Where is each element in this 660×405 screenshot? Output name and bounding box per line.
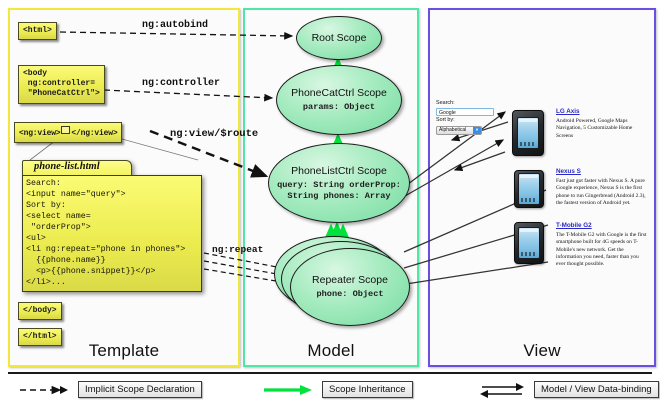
scope-root-name: Root Scope	[312, 32, 367, 44]
phone-link[interactable]: LG Axis	[556, 108, 648, 116]
tag-html-open: <html>	[18, 22, 57, 40]
legend-label-databinding: Model / View Data-binding	[534, 381, 659, 398]
search-form: Search: Google Sort by: Alphabetical ▾	[436, 100, 502, 135]
diagram-canvas: Template Model View	[0, 0, 660, 405]
legend-item-inheritance: Scope Inheritance	[262, 381, 413, 398]
phone-thumbnail	[514, 222, 544, 264]
scope-repeater-props: phone: Object	[316, 289, 383, 299]
connector-label-repeat: ng:repeat	[212, 244, 263, 255]
list-item: LG Axis Android Powered, Google Maps Nav…	[556, 108, 648, 140]
phone-link[interactable]: T-Mobile G2	[556, 222, 648, 230]
ngview-close-label: </ng:view>	[71, 129, 117, 138]
sort-select-value: Alphabetical	[437, 127, 473, 133]
file-name-label: phone-list.html	[34, 161, 100, 172]
double-arrow-icon	[478, 382, 526, 398]
panel-title-model: Model	[245, 341, 417, 361]
legend-divider	[8, 372, 652, 374]
phone-thumbnail	[514, 170, 544, 208]
scope-phonelistctrl-props: query: String orderProp: String phones: …	[269, 180, 409, 201]
tag-body-open: <body ng:controller= "PhoneCatCtrl">	[18, 65, 105, 104]
sort-select[interactable]: Alphabetical ▾	[436, 126, 482, 135]
legend-item-databinding: Model / View Data-binding	[478, 381, 659, 398]
phone-screen-icon	[517, 117, 539, 149]
legend-label-inheritance: Scope Inheritance	[322, 381, 413, 398]
phone-screen-icon	[518, 173, 540, 205]
list-item: T-Mobile G2 The T-Mobile G2 with Google …	[556, 222, 648, 269]
scope-phonecatctrl: PhoneCatCtrl Scope params: Object	[276, 65, 402, 135]
green-arrow-icon	[262, 384, 314, 396]
legend-label-implicit: Implicit Scope Declaration	[78, 381, 202, 398]
file-card-phone-list: phone-list.html Search: <input name="que…	[22, 160, 202, 292]
tag-body-close: </body>	[18, 302, 62, 320]
list-item: Nexus S Fast just got faster with Nexus …	[556, 168, 648, 207]
dashed-arrow-icon	[18, 384, 70, 396]
scope-root: Root Scope	[296, 16, 382, 60]
chevron-down-icon: ▾	[473, 127, 481, 134]
phone-snippet: Fast just got faster with Nexus S. A pur…	[556, 178, 648, 207]
tag-html-close: </html>	[18, 328, 62, 346]
phone-link[interactable]: Nexus S	[556, 168, 648, 176]
connector-label-autobind: ng:autobind	[142, 20, 208, 31]
sort-label: Sort by:	[436, 117, 502, 124]
connector-label-route: ng:view/$route	[170, 128, 258, 140]
connector-label-controller: ng:controller	[142, 78, 220, 89]
scope-repeater: Repeater Scope phone: Object	[290, 248, 410, 326]
scope-phonecatctrl-props: params: Object	[303, 102, 375, 112]
scope-phonelistctrl: PhoneListCtrl Scope query: String orderP…	[268, 143, 410, 223]
tag-ngview: <ng:view></ng:view>	[14, 122, 122, 143]
ngview-open-label: <ng:view>	[19, 129, 60, 138]
search-input[interactable]: Google	[436, 108, 494, 116]
placeholder-box-icon	[61, 126, 70, 134]
search-label: Search:	[436, 100, 502, 107]
legend-item-implicit: Implicit Scope Declaration	[18, 381, 202, 398]
file-code-content: Search: <input name="query"> Sort by: <s…	[26, 178, 185, 288]
panel-title-view: View	[430, 341, 654, 361]
phone-screen-icon	[518, 227, 540, 259]
phone-snippet: Android Powered, Google Maps Navigation,…	[556, 118, 648, 140]
scope-repeater-stack: Repeater Scope phone: Object	[274, 236, 408, 324]
scope-phonecatctrl-name: PhoneCatCtrl Scope	[291, 87, 387, 99]
file-card-body: Search: <input name="query"> Sort by: <s…	[22, 175, 202, 292]
phone-snippet: The T-Mobile G2 with Google is the first…	[556, 232, 648, 269]
scope-phonelistctrl-name: PhoneListCtrl Scope	[291, 165, 387, 177]
phone-thumbnail	[512, 110, 544, 156]
legend: Implicit Scope Declaration Scope Inherit…	[0, 372, 660, 405]
scope-repeater-name: Repeater Scope	[312, 274, 388, 286]
